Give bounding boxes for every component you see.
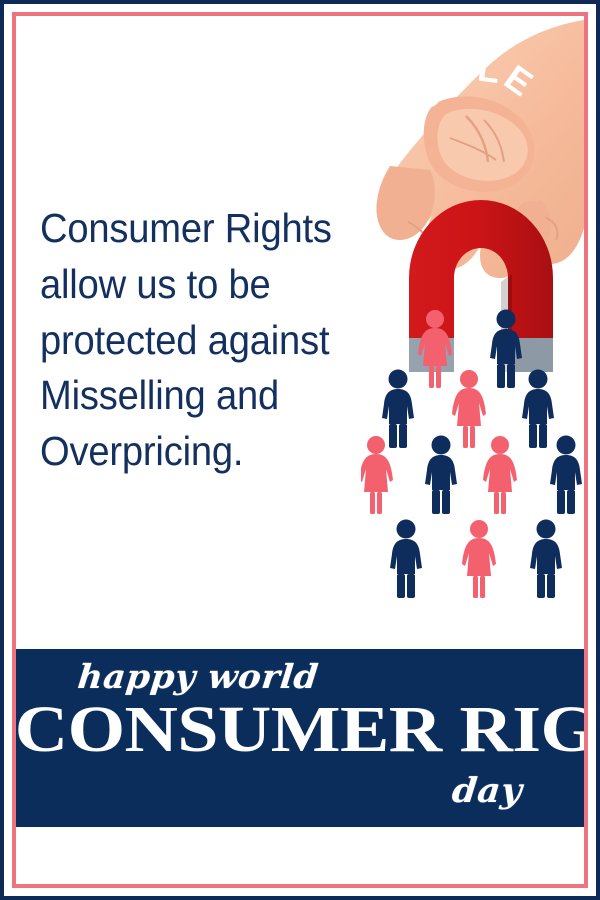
banner-footer-space	[16, 827, 584, 884]
poster: Consumer Rights allow us to be protected…	[0, 0, 600, 900]
poster-canvas: Consumer Rights allow us to be protected…	[16, 16, 584, 884]
person-male	[425, 436, 457, 515]
crowd-row-4	[390, 520, 562, 599]
person-female	[462, 520, 496, 598]
bottom-banner: happy world CONSUMER RIGHTS day	[16, 649, 584, 827]
banner-day-text: day	[450, 771, 524, 811]
people-crowd-illustration	[361, 308, 584, 628]
person-male	[382, 370, 414, 449]
person-male	[390, 520, 422, 599]
banner-happy-world-text: happy world	[76, 657, 320, 696]
person-male	[490, 310, 522, 389]
crowd-row-2	[382, 370, 554, 449]
person-female	[361, 436, 393, 514]
person-male	[530, 520, 562, 599]
person-male	[522, 370, 554, 449]
page-title: Consumer Rights allow us to be protected…	[40, 201, 366, 480]
person-female	[452, 370, 486, 448]
banner-consumer-rights-text: CONSUMER RIGHTS	[16, 697, 584, 763]
person-female	[483, 436, 517, 514]
person-male	[550, 436, 582, 515]
person-female	[418, 310, 452, 388]
